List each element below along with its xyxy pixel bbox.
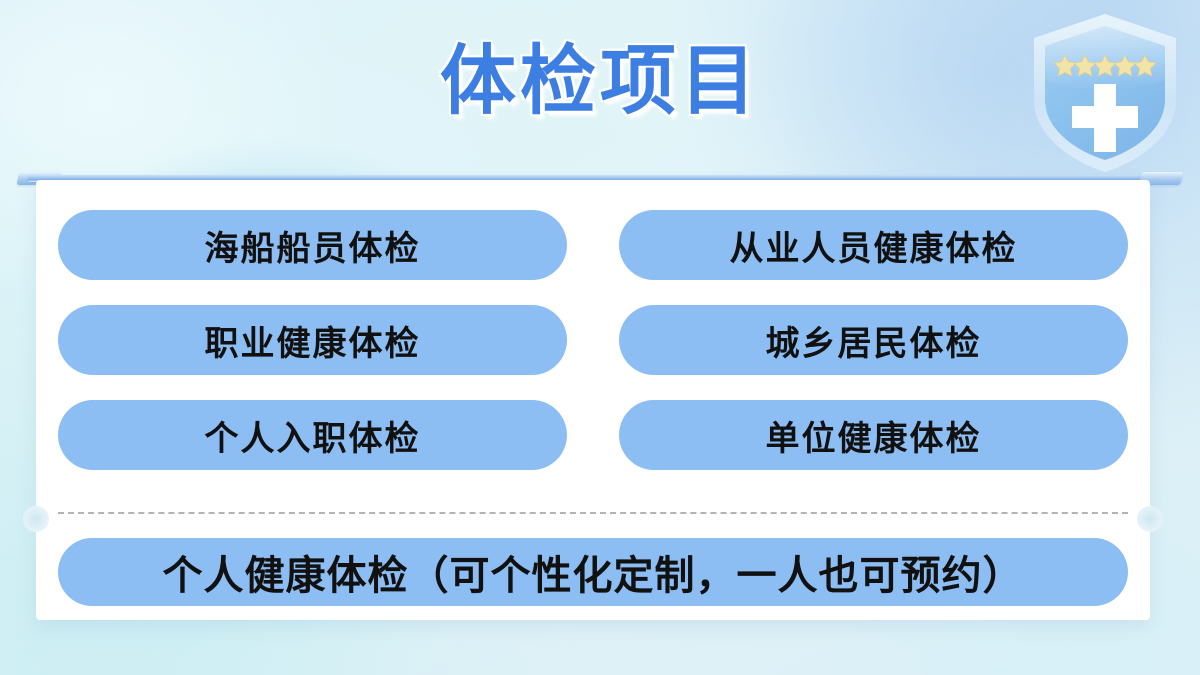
card-notch-left <box>23 506 49 532</box>
exam-item-personal-health-banner[interactable]: 个人健康体检（可个性化定制，一人也可预约） <box>58 538 1128 606</box>
exam-item-urban-rural-resident[interactable]: 城乡居民体检 <box>619 305 1128 375</box>
exam-item-marine-crew[interactable]: 海船船员体检 <box>58 210 567 280</box>
medical-shield-icon <box>1024 8 1186 178</box>
slide-canvas: 体检项目 <box>0 0 1200 675</box>
exam-item-pre-employment[interactable]: 个人入职体检 <box>58 400 567 470</box>
perforation-divider <box>58 512 1128 514</box>
card-notch-right <box>1137 506 1163 532</box>
page-title: 体检项目 <box>0 44 1200 120</box>
exam-item-company-health[interactable]: 单位健康体检 <box>619 400 1128 470</box>
exam-item-practitioner-health[interactable]: 从业人员健康体检 <box>619 210 1128 280</box>
content-card: 海船船员体检 从业人员健康体检 职业健康体检 城乡居民体检 个人入职体检 单位健… <box>36 180 1150 620</box>
personal-exam-banner-wrap: 个人健康体检（可个性化定制，一人也可预约） <box>58 538 1128 606</box>
exam-item-occupational-health[interactable]: 职业健康体检 <box>58 305 567 375</box>
exam-item-grid: 海船船员体检 从业人员健康体检 职业健康体检 城乡居民体检 个人入职体检 单位健… <box>58 210 1128 470</box>
